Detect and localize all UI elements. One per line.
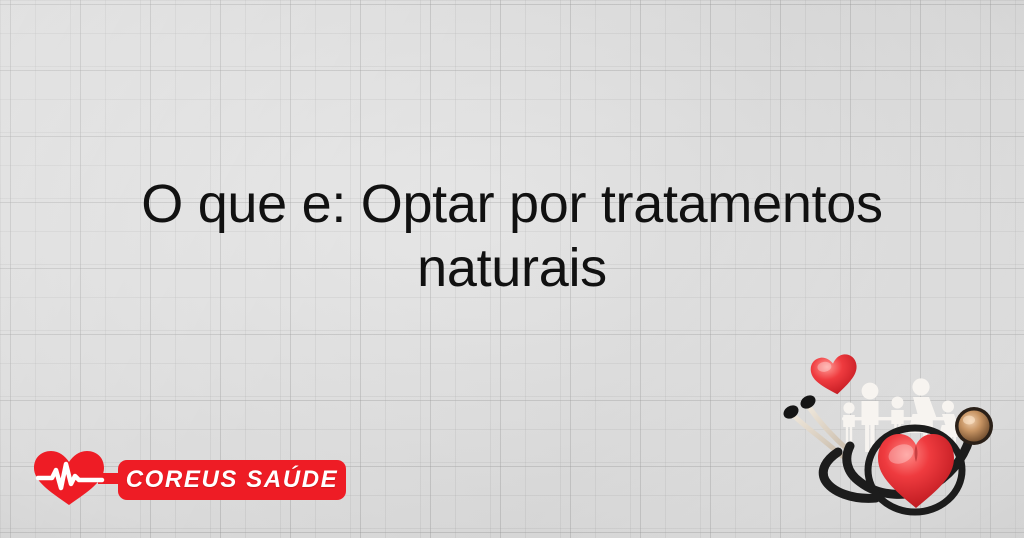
slide-canvas: O que e: Optar por tratamentos naturais …	[0, 0, 1024, 538]
brand-logo: COREUS SAÚDE	[30, 446, 360, 508]
slide-title: O que e: Optar por tratamentos naturais	[60, 172, 964, 300]
small-heart-icon	[809, 353, 860, 398]
heart-pulse-icon	[32, 450, 106, 506]
medical-illustration	[780, 348, 1024, 538]
brand-name-label: COREUS SAÚDE	[126, 466, 339, 494]
brand-badge: COREUS SAÚDE	[118, 460, 346, 500]
